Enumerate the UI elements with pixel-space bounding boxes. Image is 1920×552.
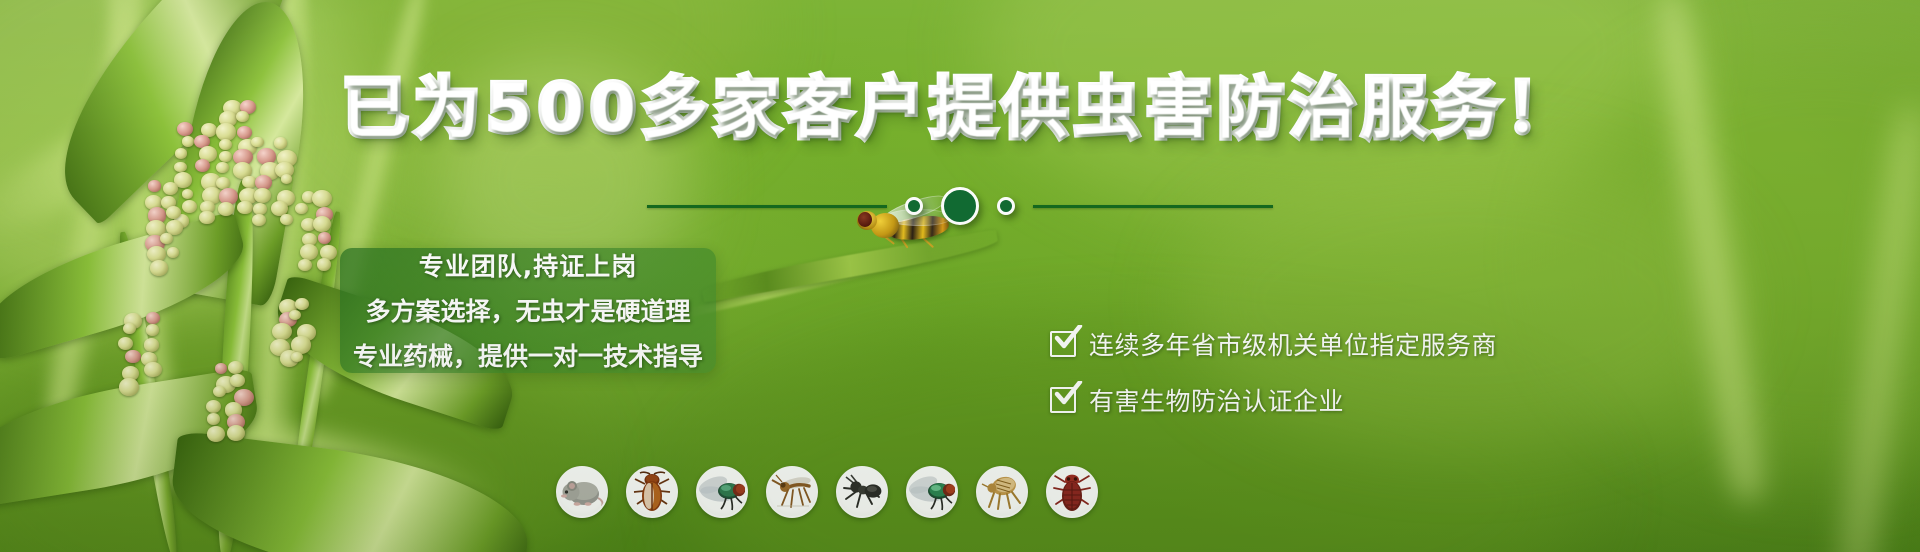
flower-bud [195, 159, 210, 172]
flower-bud [230, 374, 245, 387]
flower-bud [150, 260, 168, 276]
flower-bud [146, 312, 160, 324]
flower-bud [207, 413, 220, 425]
feature-line-2: 多方案选择，无虫才是硬道理 [365, 292, 690, 328]
flower-bud [216, 162, 229, 173]
cockroach-icon[interactable] [626, 466, 678, 518]
bedbug-icon[interactable] [1046, 466, 1098, 518]
flower-bud [317, 258, 332, 271]
pest-type-icons [556, 466, 1098, 518]
flower-bud [144, 338, 159, 351]
mosquito-icon[interactable] [766, 466, 818, 518]
ant-icon[interactable] [836, 466, 888, 518]
headline-text: 已为500多家客户提供虫害防治服务！ [342, 70, 1578, 147]
flea-icon[interactable] [976, 466, 1028, 518]
divider-line-right [1033, 205, 1273, 208]
flower-bud [298, 259, 312, 271]
flower-bud [119, 378, 139, 395]
flower-bud [175, 148, 187, 158]
features-panel: 专业团队,持证上岗 多方案选择，无虫才是硬道理 专业药械，提供一对一技术指导 [340, 248, 716, 373]
flower-bud [144, 362, 161, 377]
pest-control-hero-banner: 已为500多家客户提供虫害防治服务！ 专业团队,持证上岗 多方案选择，无虫才是硬… [0, 0, 1920, 552]
ornament-dot-large [941, 187, 979, 225]
check-box-icon [1050, 331, 1076, 357]
greenfly-icon[interactable] [906, 466, 958, 518]
credentials-list: 连续多年省市级机关单位指定服务商 有害生物防治认证企业 [1050, 326, 1497, 418]
flower-bud [213, 386, 226, 397]
credential-label: 连续多年省市级机关单位指定服务商 [1089, 326, 1497, 362]
ornament-dot-small-left [905, 197, 923, 215]
flower-bud [295, 298, 309, 310]
ornament-divider [0, 186, 1920, 226]
feature-line-3: 专业药械，提供一对一技术指导 [353, 337, 703, 373]
flower-bud [272, 323, 292, 340]
flower-bud [207, 426, 226, 442]
flower-bud [118, 337, 133, 350]
flower-bud [300, 244, 318, 260]
ornament-dot-small-right [997, 197, 1015, 215]
flower-bud [123, 323, 136, 334]
divider-line-left [647, 205, 887, 208]
feature-line-1: 专业团队,持证上岗 [419, 247, 638, 283]
mouse-icon[interactable] [556, 466, 608, 518]
list-item: 有害生物防治认证企业 [1050, 382, 1497, 418]
list-item: 连续多年省市级机关单位指定服务商 [1050, 326, 1497, 362]
check-box-icon [1050, 387, 1076, 413]
flower-bud [146, 324, 159, 336]
flower-bud [291, 352, 303, 363]
page-title: 已为500多家客户提供虫害防治服务！ [0, 76, 1920, 142]
flower-bud [160, 233, 173, 244]
credential-label: 有害生物防治认证企业 [1089, 382, 1344, 418]
flower-bud [174, 162, 186, 173]
flower-bud [318, 232, 332, 244]
fly-icon[interactable] [696, 466, 748, 518]
